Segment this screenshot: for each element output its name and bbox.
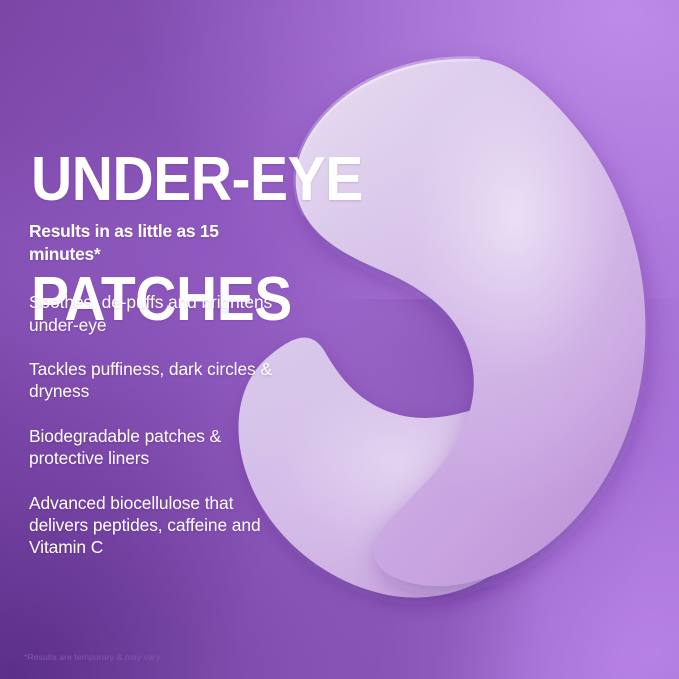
- benefit-item-tackles: Tackles puffiness, dark circles & drynes…: [29, 358, 281, 403]
- disclaimer-footnote: *Results are temporary & may vary: [24, 652, 161, 663]
- benefit-item-biodegradable: Biodegradable patches & protective liner…: [29, 425, 281, 470]
- benefit-item-biocellulose: Advanced biocellulose that delivers pept…: [29, 492, 281, 559]
- headline-line-1: UNDER-EYE: [31, 150, 363, 210]
- benefit-item-results-time: Results in as little as 15 minutes*: [29, 220, 281, 265]
- benefit-item-soothes: Soothes, de-puffs and brightens under-ey…: [29, 291, 281, 336]
- benefit-list: Results in as little as 15 minutes* Soot…: [29, 203, 281, 559]
- under-eye-patches-promo-graphic: UNDER-EYE PATCHES Results in as little a…: [0, 0, 679, 679]
